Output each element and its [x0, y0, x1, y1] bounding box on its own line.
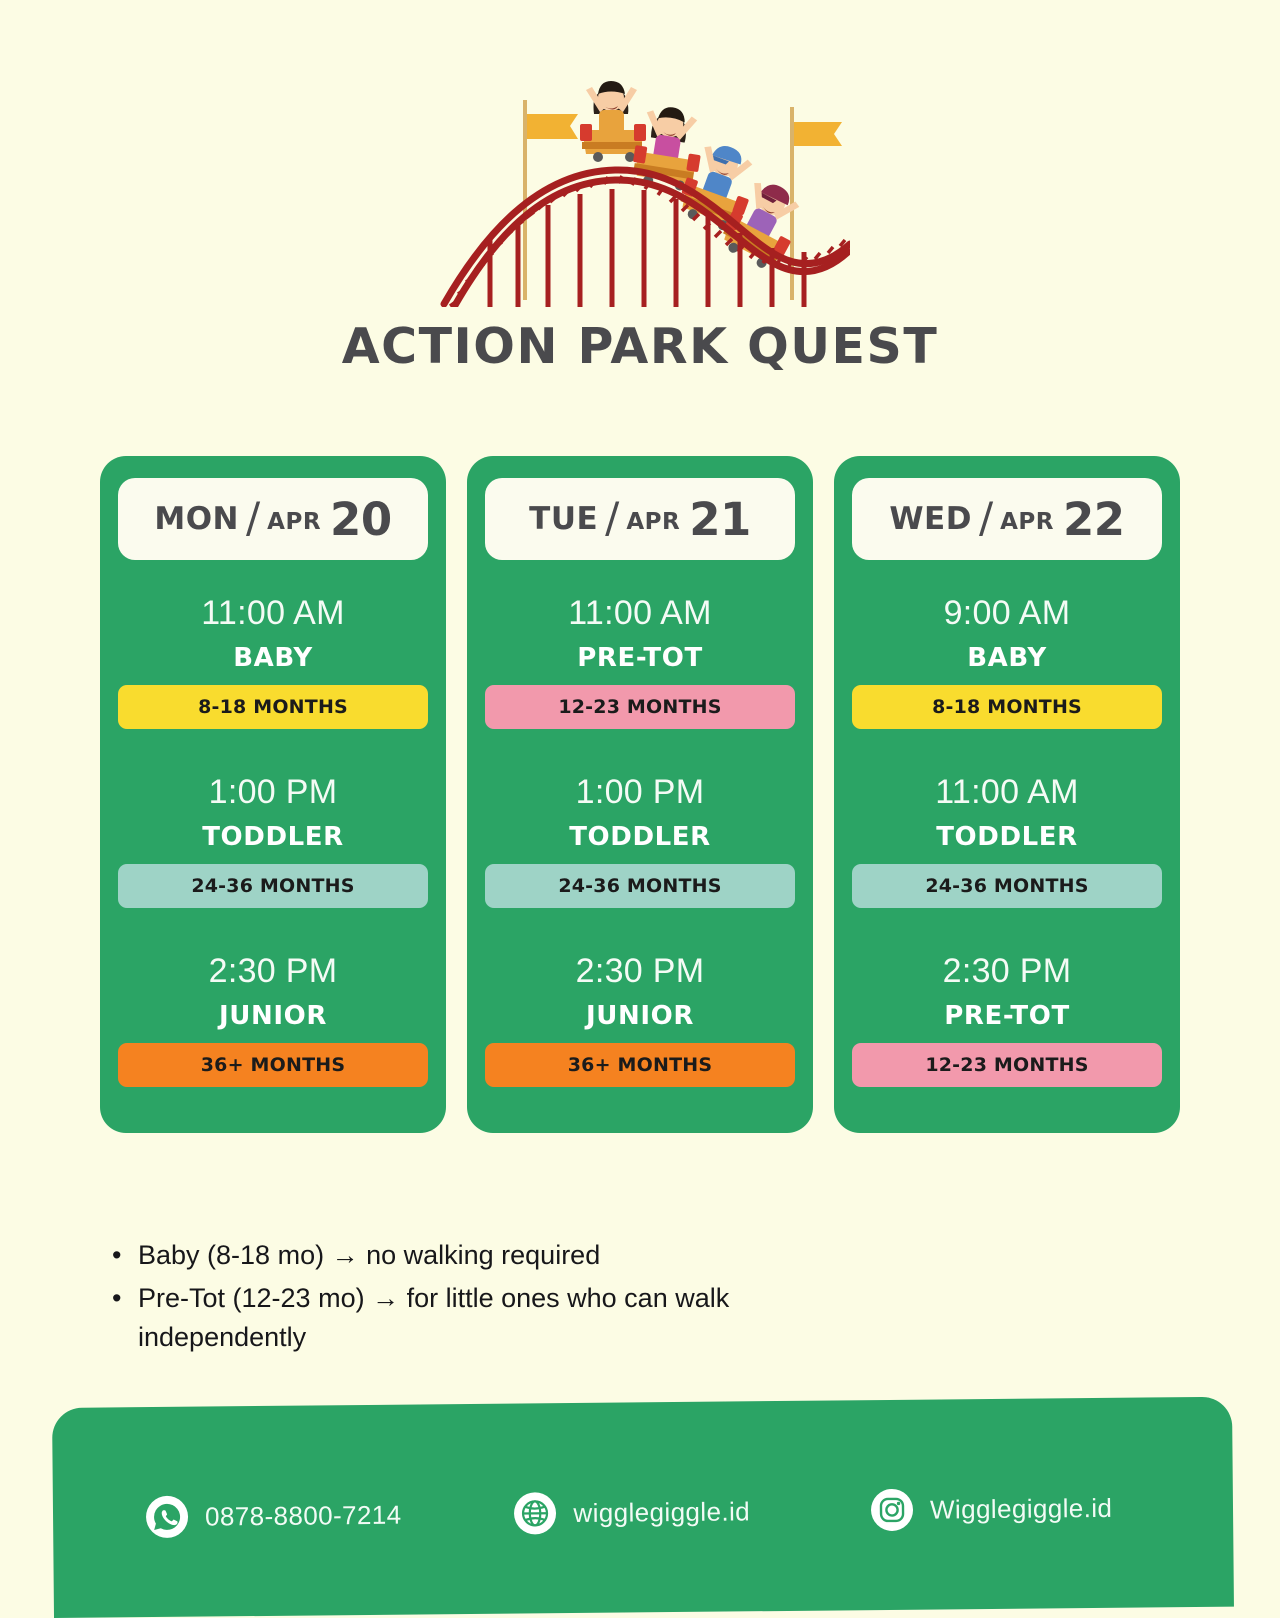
day-of-week: MON	[154, 501, 239, 537]
age-range-badge: 12-23 MONTHS	[485, 685, 795, 729]
day-header: MON/APR20	[118, 478, 428, 560]
slot-time: 11:00 AM	[852, 773, 1162, 812]
page-title: ACTION PARK QUEST	[0, 318, 1280, 375]
slot-category: BABY	[118, 643, 428, 673]
slot-category: TODDLER	[852, 822, 1162, 852]
slot-time: 2:30 PM	[485, 952, 795, 991]
slot-category: BABY	[852, 643, 1162, 673]
schedule-slot[interactable]: 11:00 AMPRE-TOT12-23 MONTHS	[485, 594, 795, 729]
schedule-slot[interactable]: 2:30 PMJUNIOR36+ MONTHS	[485, 952, 795, 1087]
slot-time: 9:00 AM	[852, 594, 1162, 633]
day-column-tue: TUE/APR2111:00 AMPRE-TOT12-23 MONTHS1:00…	[467, 456, 813, 1133]
bullet-icon: •	[112, 1236, 138, 1275]
slot-time: 2:30 PM	[852, 952, 1162, 991]
contact-whatsapp-phone[interactable]: 0878-8800-7214	[145, 1493, 402, 1539]
contact-globe[interactable]: wigglegiggle.id	[513, 1489, 750, 1535]
month-label: APR	[626, 509, 680, 535]
age-range-badge: 24-36 MONTHS	[118, 864, 428, 908]
globe-icon	[513, 1491, 557, 1535]
note-item: •Pre-Tot (12-23 mo) → for little ones wh…	[112, 1279, 832, 1357]
slot-time: 1:00 PM	[485, 773, 795, 812]
instagram-icon	[870, 1488, 914, 1532]
contact-label: Wigglegiggle.id	[930, 1492, 1113, 1525]
day-header: TUE/APR21	[485, 478, 795, 560]
schedule-slot[interactable]: 1:00 PMTODDLER24-36 MONTHS	[485, 773, 795, 908]
bullet-icon: •	[112, 1279, 138, 1318]
age-range-badge: 36+ MONTHS	[485, 1043, 795, 1087]
day-header: WED/APR22	[852, 478, 1162, 560]
roller-coaster-icon	[430, 72, 850, 307]
slot-category: JUNIOR	[485, 1001, 795, 1031]
notes-list: •Baby (8-18 mo) → no walking required•Pr…	[112, 1236, 832, 1361]
date-separator: /	[979, 493, 993, 542]
month-label: APR	[267, 509, 321, 535]
schedule-slot[interactable]: 11:00 AMTODDLER24-36 MONTHS	[852, 773, 1162, 908]
day-number: 22	[1063, 493, 1125, 546]
day-column-wed: WED/APR229:00 AMBABY8-18 MONTHS11:00 AMT…	[834, 456, 1180, 1133]
note-text: Baby (8-18 mo) → no walking required	[138, 1236, 832, 1275]
schedule-slot[interactable]: 2:30 PMPRE-TOT12-23 MONTHS	[852, 952, 1162, 1087]
slot-category: TODDLER	[118, 822, 428, 852]
age-range-badge: 8-18 MONTHS	[118, 685, 428, 729]
footer-bar: 0878-8800-7214wigglegiggle.idWigglegiggl…	[52, 1397, 1234, 1618]
day-of-week: TUE	[529, 501, 598, 537]
schedule-slot[interactable]: 2:30 PMJUNIOR36+ MONTHS	[118, 952, 428, 1087]
note-text: Pre-Tot (12-23 mo) → for little ones who…	[138, 1279, 832, 1357]
contact-instagram[interactable]: Wigglegiggle.id	[870, 1486, 1113, 1532]
hero-illustration	[0, 72, 1280, 312]
day-column-mon: MON/APR2011:00 AMBABY8-18 MONTHS1:00 PMT…	[100, 456, 446, 1133]
schedule-grid: MON/APR2011:00 AMBABY8-18 MONTHS1:00 PMT…	[100, 456, 1180, 1133]
whatsapp-phone-icon	[145, 1495, 189, 1539]
note-item: •Baby (8-18 mo) → no walking required	[112, 1236, 832, 1275]
day-number: 21	[689, 493, 751, 546]
age-range-badge: 24-36 MONTHS	[485, 864, 795, 908]
slot-category: JUNIOR	[118, 1001, 428, 1031]
slot-category: TODDLER	[485, 822, 795, 852]
contact-label: wigglegiggle.id	[573, 1496, 750, 1529]
month-label: APR	[1000, 509, 1054, 535]
age-range-badge: 36+ MONTHS	[118, 1043, 428, 1087]
schedule-slot[interactable]: 1:00 PMTODDLER24-36 MONTHS	[118, 773, 428, 908]
age-range-badge: 12-23 MONTHS	[852, 1043, 1162, 1087]
day-number: 20	[330, 493, 392, 546]
contact-label: 0878-8800-7214	[205, 1499, 402, 1532]
date-separator: /	[246, 493, 260, 542]
slot-time: 11:00 AM	[118, 594, 428, 633]
day-of-week: WED	[889, 501, 972, 537]
slot-category: PRE-TOT	[852, 1001, 1162, 1031]
age-range-badge: 24-36 MONTHS	[852, 864, 1162, 908]
age-range-badge: 8-18 MONTHS	[852, 685, 1162, 729]
slot-category: PRE-TOT	[485, 643, 795, 673]
slot-time: 1:00 PM	[118, 773, 428, 812]
slot-time: 11:00 AM	[485, 594, 795, 633]
date-separator: /	[605, 493, 619, 542]
schedule-slot[interactable]: 11:00 AMBABY8-18 MONTHS	[118, 594, 428, 729]
slot-time: 2:30 PM	[118, 952, 428, 991]
schedule-slot[interactable]: 9:00 AMBABY8-18 MONTHS	[852, 594, 1162, 729]
